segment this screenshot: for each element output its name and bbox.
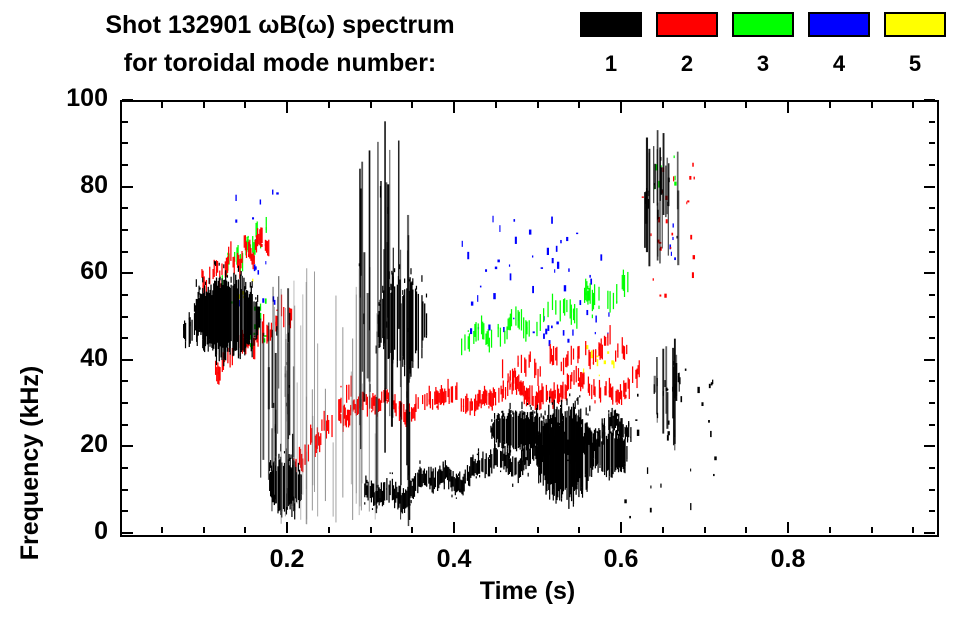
- y-tick-minor: [122, 251, 128, 253]
- figure-title: Shot 132901 ωB(ω) spectrum for toroidal …: [0, 6, 560, 82]
- y-tick-minor-right: [929, 207, 935, 209]
- x-tick-minor-top: [495, 102, 497, 108]
- x-tick-label-0.8: 0.8: [748, 547, 828, 572]
- x-tick-major-0.6: [620, 522, 622, 533]
- spectrogram-canvas: [122, 102, 937, 535]
- x-tick-major-top-0.8: [787, 102, 789, 113]
- y-tick-label-40: 40: [38, 346, 108, 371]
- x-tick-minor: [203, 527, 205, 533]
- y-tick-minor-right: [929, 467, 935, 469]
- y-tick-major-right-100: [924, 99, 935, 101]
- x-tick-minor-top: [328, 102, 330, 108]
- legend-entry-2[interactable]: 2: [656, 12, 718, 75]
- title-text-1: Shot 132901 ωB(ω) spectrum: [105, 11, 454, 39]
- y-tick-minor-right: [929, 121, 935, 123]
- x-tick-minor-top: [411, 102, 413, 108]
- legend-swatch-2: [656, 12, 718, 37]
- y-tick-major-0: [122, 532, 133, 534]
- legend-entry-3[interactable]: 3: [732, 12, 794, 75]
- x-tick-minor-top: [704, 102, 706, 108]
- y-tick-minor: [122, 316, 128, 318]
- legend-entry-5[interactable]: 5: [884, 12, 946, 75]
- x-tick-label-0.6: 0.6: [581, 547, 661, 572]
- y-tick-label-60: 60: [38, 259, 108, 284]
- legend-label-5: 5: [884, 53, 946, 75]
- x-tick-major-top-0.6: [620, 102, 622, 113]
- x-tick-minor: [871, 527, 873, 533]
- x-tick-minor-top: [203, 102, 205, 108]
- x-tick-minor-top: [829, 102, 831, 108]
- y-tick-major-right-0: [924, 532, 935, 534]
- y-tick-label-0: 0: [38, 519, 108, 544]
- y-tick-major-right-60: [924, 272, 935, 274]
- y-axis-title-wrap: Frequency (kHz): [8, 145, 44, 485]
- spectrogram-figure: Shot 132901 ωB(ω) spectrum for toroidal …: [0, 0, 963, 615]
- x-tick-major-top-0.4: [453, 102, 455, 113]
- x-tick-minor: [370, 527, 372, 533]
- y-tick-minor-right: [929, 229, 935, 231]
- y-tick-minor: [122, 337, 128, 339]
- series-n-4: [235, 190, 676, 347]
- legend-swatch-1: [580, 12, 642, 37]
- y-tick-minor: [122, 489, 128, 491]
- y-tick-minor: [122, 207, 128, 209]
- y-tick-minor: [122, 142, 128, 144]
- x-tick-minor-top: [745, 102, 747, 108]
- legend: 12345: [580, 12, 960, 90]
- plot-area: [122, 102, 937, 535]
- x-tick-minor-top: [161, 102, 163, 108]
- x-tick-major-0.4: [453, 522, 455, 533]
- y-tick-minor-right: [929, 316, 935, 318]
- y-tick-minor-right: [929, 337, 935, 339]
- x-tick-major-0.2: [286, 522, 288, 533]
- x-tick-minor-top: [912, 102, 914, 108]
- y-tick-minor-right: [929, 164, 935, 166]
- x-tick-minor: [244, 527, 246, 533]
- x-tick-minor: [328, 527, 330, 533]
- x-tick-minor-top: [537, 102, 539, 108]
- y-tick-minor-right: [929, 294, 935, 296]
- plot-frame: [120, 100, 939, 537]
- y-tick-minor: [122, 380, 128, 382]
- x-tick-minor: [745, 527, 747, 533]
- y-tick-minor: [122, 294, 128, 296]
- title-line-1: Shot 132901 ωB(ω) spectrum: [0, 6, 560, 44]
- y-tick-minor: [122, 121, 128, 123]
- y-tick-minor: [122, 164, 128, 166]
- y-tick-label-20: 20: [38, 432, 108, 457]
- x-tick-minor: [662, 527, 664, 533]
- y-tick-minor-right: [929, 402, 935, 404]
- x-tick-minor: [495, 527, 497, 533]
- x-axis-title: Time (s): [120, 578, 935, 604]
- x-tick-minor: [912, 527, 914, 533]
- legend-swatch-5: [884, 12, 946, 37]
- x-tick-minor-top: [662, 102, 664, 108]
- legend-swatch-4: [808, 12, 870, 37]
- y-tick-major-right-40: [924, 359, 935, 361]
- y-tick-major-40: [122, 359, 133, 361]
- x-tick-minor-top: [871, 102, 873, 108]
- y-tick-minor-right: [929, 489, 935, 491]
- x-tick-minor: [537, 527, 539, 533]
- x-tick-minor: [411, 527, 413, 533]
- y-tick-label-100: 100: [38, 86, 108, 111]
- title-text-2: for toroidal mode number:: [124, 49, 437, 77]
- legend-entry-4[interactable]: 4: [808, 12, 870, 75]
- y-tick-minor-right: [929, 380, 935, 382]
- y-tick-minor-right: [929, 510, 935, 512]
- y-tick-minor: [122, 467, 128, 469]
- title-line-2: for toroidal mode number:: [0, 44, 560, 82]
- y-tick-minor: [122, 510, 128, 512]
- x-tick-label-0.2: 0.2: [247, 547, 327, 572]
- y-tick-major-right-20: [924, 445, 935, 447]
- y-tick-major-80: [122, 186, 133, 188]
- y-tick-major-20: [122, 445, 133, 447]
- x-tick-major-top-0.2: [286, 102, 288, 113]
- x-tick-label-0.4: 0.4: [414, 547, 494, 572]
- legend-label-4: 4: [808, 53, 870, 75]
- x-tick-minor: [829, 527, 831, 533]
- legend-entry-1[interactable]: 1: [580, 12, 642, 75]
- y-tick-major-60: [122, 272, 133, 274]
- y-tick-minor: [122, 229, 128, 231]
- y-axis-title: Frequency (kHz): [17, 293, 43, 633]
- y-tick-minor: [122, 424, 128, 426]
- y-tick-minor-right: [929, 424, 935, 426]
- legend-label-2: 2: [656, 53, 718, 75]
- x-tick-minor-top: [578, 102, 580, 108]
- legend-swatch-3: [732, 12, 794, 37]
- x-tick-minor-top: [370, 102, 372, 108]
- legend-label-3: 3: [732, 53, 794, 75]
- legend-label-1: 1: [580, 53, 642, 75]
- y-tick-label-80: 80: [38, 173, 108, 198]
- x-tick-minor-top: [244, 102, 246, 108]
- x-tick-minor: [704, 527, 706, 533]
- y-tick-minor-right: [929, 142, 935, 144]
- y-tick-minor: [122, 402, 128, 404]
- y-tick-major-100: [122, 99, 133, 101]
- y-tick-major-right-80: [924, 186, 935, 188]
- y-tick-minor-right: [929, 251, 935, 253]
- x-tick-minor: [578, 527, 580, 533]
- x-tick-minor: [161, 527, 163, 533]
- x-tick-major-0.8: [787, 522, 789, 533]
